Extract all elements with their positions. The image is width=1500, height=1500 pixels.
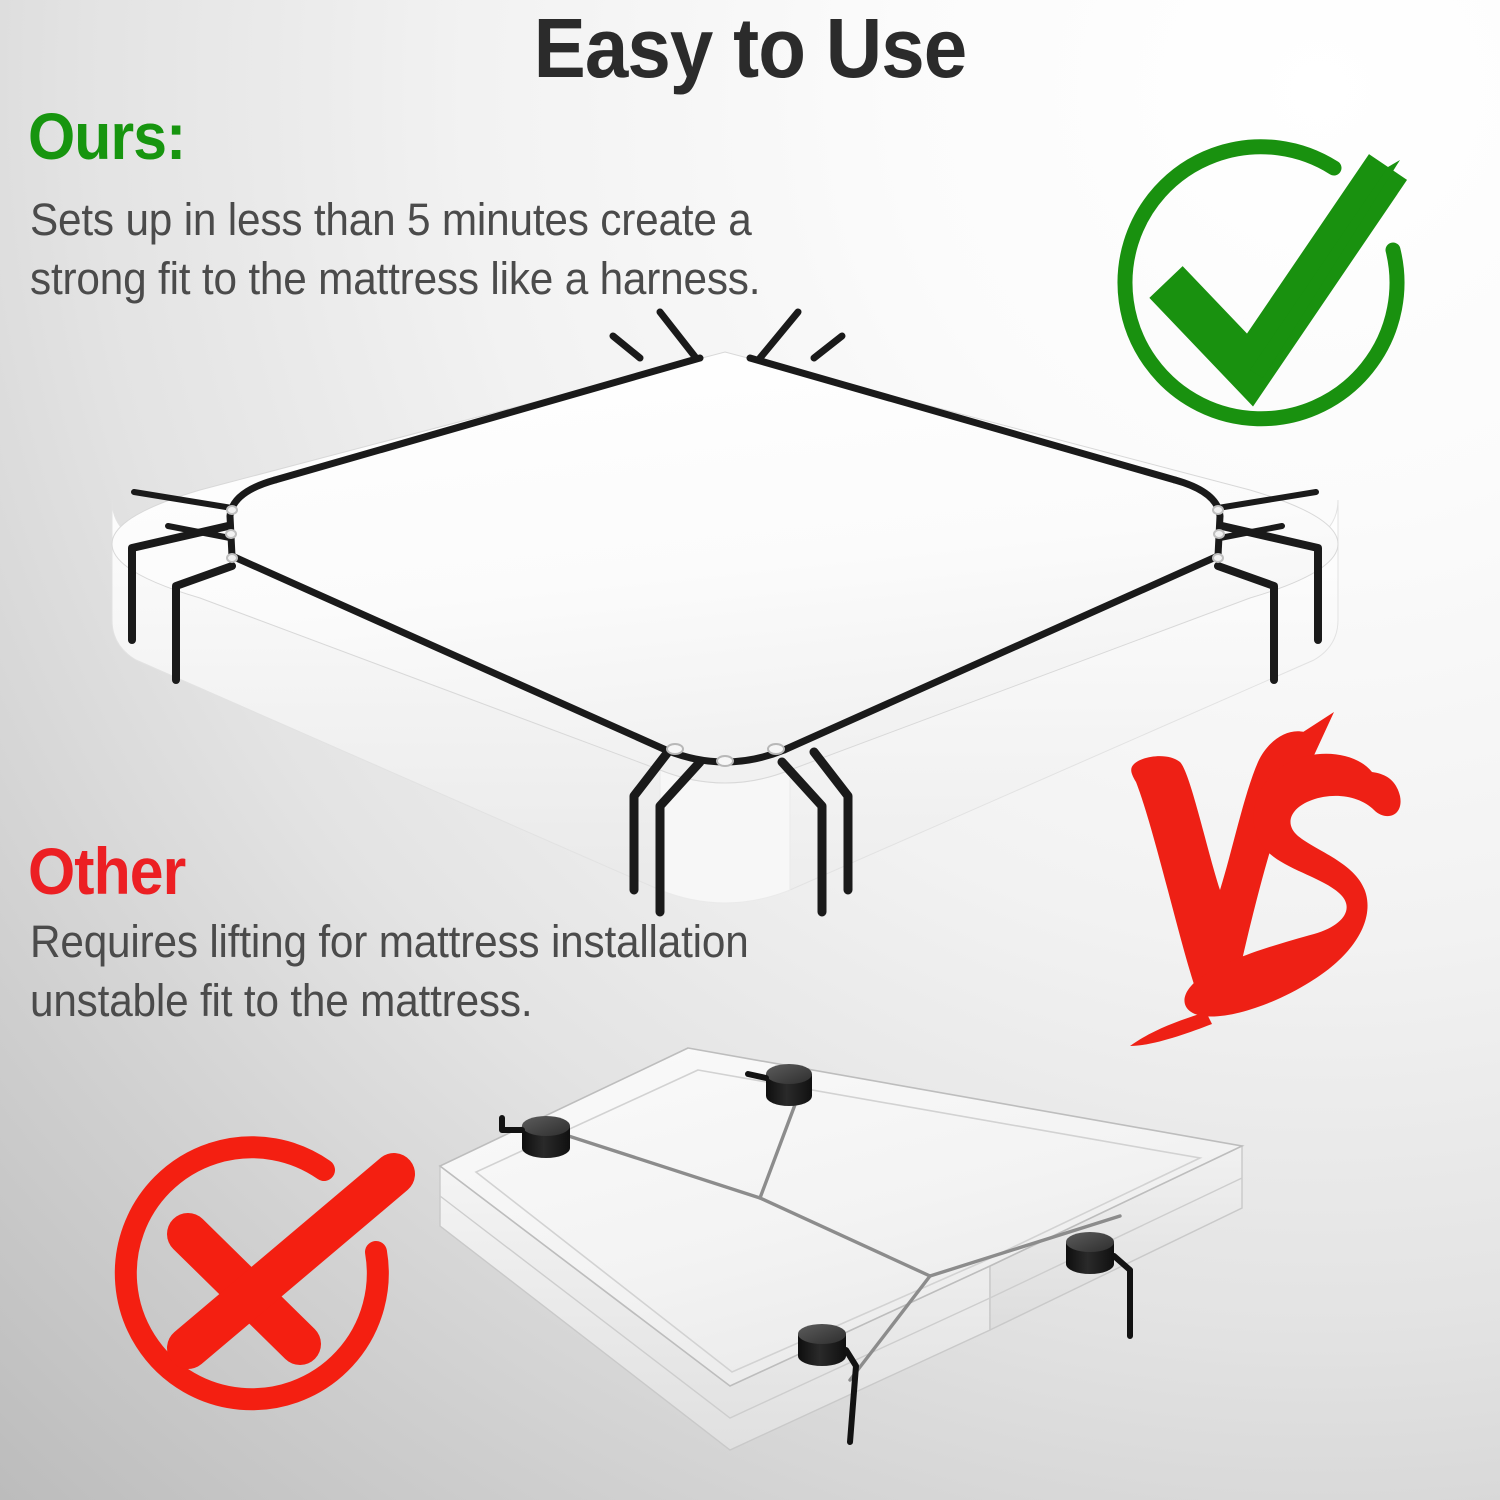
other-description: Requires lifting for mattress installati…	[30, 912, 989, 1031]
cross-circle-icon	[88, 1136, 398, 1446]
ours-heading: Ours:	[28, 103, 185, 169]
infographic-canvas: Easy to Use Ours: Sets up in less than 5…	[0, 0, 1500, 1500]
other-heading: Other	[28, 838, 185, 904]
vs-brush-icon	[1128, 728, 1418, 1058]
ours-description: Sets up in less than 5 minutes create a …	[30, 190, 989, 309]
mattress-with-corner-clips-illustration	[430, 1030, 1250, 1460]
page-title: Easy to Use	[53, 6, 1448, 90]
